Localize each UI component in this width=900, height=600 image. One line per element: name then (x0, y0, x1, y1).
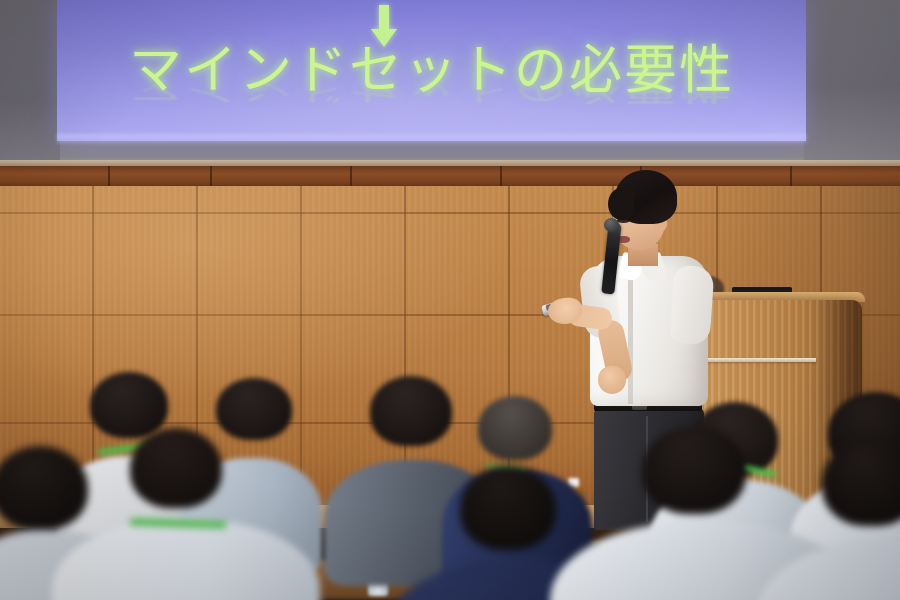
projection-screen-glow (57, 134, 806, 144)
back-wall-left-panel (0, 0, 60, 170)
list-item (86, 428, 286, 600)
presenter-hair-side (608, 188, 634, 220)
slide-title: マインドセットの必要性 (57, 44, 806, 97)
list-item (786, 440, 900, 600)
seminar-photo-scene: マインドセットの必要性 マインドセットの必要性 (0, 0, 900, 600)
back-wall-right-panel (804, 0, 900, 172)
audience-area (0, 330, 900, 600)
wall-trim-band (0, 166, 900, 188)
